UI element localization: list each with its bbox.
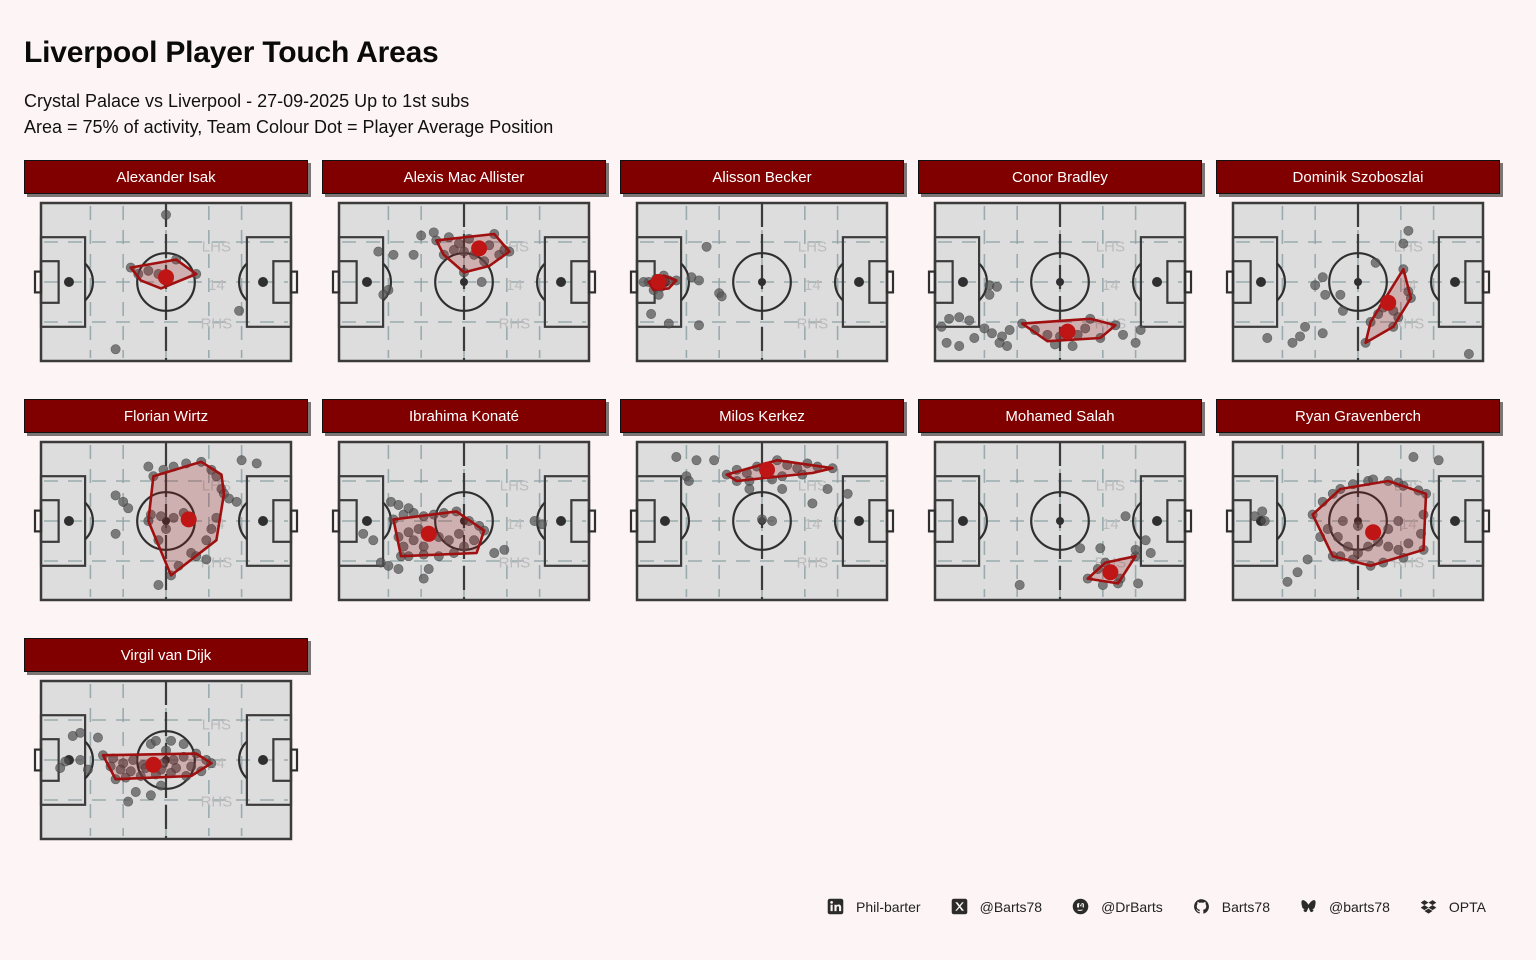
pitch-diagram: LHS14RHS: [934, 441, 1186, 601]
footer-credit-item: @Barts78: [951, 898, 1042, 915]
touch-dot: [111, 491, 120, 500]
touch-dot: [369, 536, 378, 545]
touch-dot: [1068, 341, 1077, 350]
touch-dot: [156, 781, 165, 790]
touch-dot: [56, 763, 65, 772]
pitch-watermark-lhs: LHS: [1096, 478, 1125, 495]
average-position-dot: [1380, 295, 1396, 311]
touch-dot: [417, 231, 426, 240]
pitch-diagram: LHS14RHS: [40, 441, 292, 601]
touch-dot: [1005, 325, 1014, 334]
touch-dot: [1311, 281, 1320, 290]
pitch-watermark-number: 14: [1102, 516, 1119, 533]
touch-dot: [1371, 258, 1380, 267]
touch-dot: [965, 316, 974, 325]
touch-dot: [1076, 544, 1085, 553]
touch-dot: [745, 484, 754, 493]
touch-dot: [379, 290, 388, 299]
average-position-dot: [145, 757, 161, 773]
touch-dot: [702, 242, 711, 251]
pitch-diagram: LHS14RHS: [934, 202, 1186, 362]
touch-dot: [1434, 456, 1443, 465]
player-name-header: Alisson Becker: [620, 160, 904, 194]
touch-dot: [161, 210, 170, 219]
touch-dot: [111, 345, 120, 354]
touch-dot: [429, 228, 438, 237]
touch-dot: [1118, 330, 1127, 339]
player-name-header: Alexander Isak: [24, 160, 308, 194]
footer-credit-label: @barts78: [1329, 899, 1390, 915]
pitch-watermark-lhs: LHS: [1394, 239, 1423, 256]
touch-dot: [1258, 507, 1267, 516]
footer-credit-label: OPTA: [1449, 899, 1486, 915]
touch-dot: [477, 277, 486, 286]
touch-dot: [1464, 349, 1473, 358]
pitch-watermark-rhs: RHS: [797, 315, 829, 332]
pitch-watermark-number: 14: [506, 277, 523, 294]
pitch-watermark-number: 14: [208, 277, 225, 294]
average-position-dot: [1102, 564, 1118, 580]
player-name-header: Ryan Gravenberch: [1216, 399, 1500, 433]
pitch-diagram: LHS14RHS: [338, 202, 590, 362]
average-position-dot: [421, 526, 437, 542]
pitch-container: LHS14RHS: [322, 441, 606, 626]
touch-dot: [1338, 306, 1347, 315]
player-name-header: Dominik Szoboszlai: [1216, 160, 1500, 194]
footer-credit-label: @Barts78: [980, 899, 1042, 915]
touch-dot: [639, 277, 648, 286]
touch-dot: [1303, 555, 1312, 564]
touch-dot: [179, 739, 188, 748]
footer-credit-item: Barts78: [1193, 898, 1270, 915]
average-position-dot: [181, 511, 197, 527]
pitch-container: LHS14RHS: [322, 202, 606, 387]
pitch-container: LHS14RHS: [24, 680, 308, 865]
touch-dot: [694, 321, 703, 330]
pitch-diagram: LHS14RHS: [636, 202, 888, 362]
pitch-diagram: LHS14RHS: [1232, 441, 1484, 601]
touch-dot: [985, 290, 994, 299]
touch-dot: [359, 529, 368, 538]
touch-dot: [1283, 577, 1292, 586]
panel-grid: Alexander IsakLHS14RHSAlexis Mac Alliste…: [24, 160, 1520, 877]
average-position-dot: [471, 240, 487, 256]
pitch-watermark-rhs: RHS: [201, 315, 233, 332]
touch-dot: [538, 520, 547, 529]
footer-credit-label: Barts78: [1222, 899, 1270, 915]
pitch-diagram: LHS14RHS: [40, 680, 292, 840]
panel-row: Florian WirtzLHS14RHSIbrahima KonatéLHS1…: [24, 399, 1520, 626]
touch-dot: [1134, 579, 1143, 588]
pitch-container: LHS14RHS: [918, 202, 1202, 387]
touch-dot: [374, 247, 383, 256]
player-panel[interactable]: Alexis Mac AllisterLHS14RHS: [322, 160, 606, 387]
footer-credit-label: Phil-barter: [856, 899, 921, 915]
pitch-diagram: LHS14RHS: [1232, 202, 1484, 362]
pitch-watermark-lhs: LHS: [202, 717, 231, 734]
player-panel[interactable]: Ibrahima KonatéLHS14RHS: [322, 399, 606, 626]
touch-dot: [778, 484, 787, 493]
touch-dot: [1146, 548, 1155, 557]
player-panel[interactable]: Milos KerkezLHS14RHS: [620, 399, 904, 626]
footer-credit-item: Phil-barter: [827, 898, 921, 915]
touch-dot: [131, 787, 140, 796]
pitch-watermark-rhs: RHS: [797, 554, 829, 571]
github-icon: [1193, 898, 1210, 915]
touch-dot: [955, 313, 964, 322]
touch-dot: [389, 250, 398, 259]
touch-dot: [945, 314, 954, 323]
touch-dot: [93, 733, 102, 742]
touch-dot: [1131, 338, 1140, 347]
panel-row: Virgil van DijkLHS14RHS: [24, 638, 1520, 865]
pitch-watermark-rhs: RHS: [499, 315, 531, 332]
player-name-header: Virgil van Dijk: [24, 638, 308, 672]
footer-credit-item: OPTA: [1420, 898, 1486, 915]
touch-dot: [1096, 544, 1105, 553]
pitch-container: LHS14RHS: [1216, 202, 1500, 387]
touch-dot: [166, 736, 175, 745]
touch-dot: [672, 452, 681, 461]
touch-dot: [252, 459, 261, 468]
player-panel[interactable]: Virgil van DijkLHS14RHS: [24, 638, 308, 865]
mastodon-icon: [1072, 898, 1089, 915]
linkedin-icon: [827, 898, 844, 915]
touch-dot: [409, 250, 418, 259]
touch-dot: [843, 489, 852, 498]
touch-dot: [654, 290, 663, 299]
touch-dot: [394, 564, 403, 573]
panel-row: Alexander IsakLHS14RHSAlexis Mac Alliste…: [24, 160, 1520, 387]
touch-dot: [232, 497, 241, 506]
pitch-watermark-lhs: LHS: [500, 478, 529, 495]
pitch-container: LHS14RHS: [620, 441, 904, 626]
touch-dot: [1136, 325, 1145, 334]
pitch-watermark-lhs: LHS: [1096, 239, 1125, 256]
player-panel[interactable]: Mohamed SalahLHS14RHS: [918, 399, 1202, 626]
touch-dot: [955, 341, 964, 350]
touch-dot: [124, 504, 133, 513]
pitch-container: LHS14RHS: [918, 441, 1202, 626]
touch-dot: [684, 476, 693, 485]
page-subtitle: Crystal Palace vs Liverpool - 27-09-2025…: [24, 88, 553, 140]
average-position-dot: [759, 462, 775, 478]
touch-dot: [83, 765, 92, 774]
touch-dot: [1336, 290, 1345, 299]
player-panel[interactable]: Florian WirtzLHS14RHS: [24, 399, 308, 626]
bluesky-butterfly-icon: [1300, 898, 1317, 915]
pitch-watermark-rhs: RHS: [499, 554, 531, 571]
touch-dot: [664, 319, 673, 328]
touch-dot: [1288, 338, 1297, 347]
player-name-header: Ibrahima Konaté: [322, 399, 606, 433]
touch-dot: [76, 755, 85, 764]
player-name-header: Florian Wirtz: [24, 399, 308, 433]
pitch-diagram: LHS14RHS: [636, 441, 888, 601]
player-panel[interactable]: Alisson BeckerLHS14RHS: [620, 160, 904, 387]
average-position-dot: [1365, 524, 1381, 540]
pitch-container: LHS14RHS: [24, 202, 308, 387]
touch-dot: [76, 728, 85, 737]
touch-dot: [124, 797, 133, 806]
player-name-header: Conor Bradley: [918, 160, 1202, 194]
touch-dot: [384, 561, 393, 570]
touch-dot: [767, 516, 776, 525]
touch-dot: [424, 564, 433, 573]
touch-dot: [1300, 322, 1309, 331]
touch-dot: [1015, 580, 1024, 589]
footer-credit-item: @DrBarts: [1072, 898, 1163, 915]
touch-dot: [146, 791, 155, 800]
touch-dot: [151, 736, 160, 745]
touch-dot: [111, 529, 120, 538]
average-position-dot: [651, 274, 667, 290]
average-position-dot: [158, 269, 174, 285]
pitch-watermark-number: 14: [1102, 277, 1119, 294]
touch-dot: [1260, 516, 1269, 525]
player-name-header: Alexis Mac Allister: [322, 160, 606, 194]
touch-dot: [419, 574, 428, 583]
touch-dot: [1002, 341, 1011, 350]
touch-dot: [1293, 568, 1302, 577]
pitch-watermark-lhs: LHS: [798, 239, 827, 256]
touch-dot: [144, 462, 153, 471]
page-title: Liverpool Player Touch Areas: [24, 36, 439, 70]
subtitle-line-1: Crystal Palace vs Liverpool - 27-09-2025…: [24, 88, 553, 114]
touch-dot: [992, 282, 1001, 291]
player-panel[interactable]: Ryan GravenberchLHS14RHS: [1216, 399, 1500, 626]
touch-dot: [202, 555, 211, 564]
footer-credit-label: @DrBarts: [1101, 899, 1163, 915]
touch-dot: [823, 484, 832, 493]
pitch-watermark-rhs: RHS: [201, 793, 233, 810]
player-panel[interactable]: Conor BradleyLHS14RHS: [918, 160, 1202, 387]
touch-dot: [937, 322, 946, 331]
touch-dot: [500, 545, 509, 554]
footer-credit-item: @barts78: [1300, 898, 1390, 915]
touch-dot: [237, 456, 246, 465]
pitch-watermark-number: 14: [804, 277, 821, 294]
pitch-watermark-lhs: LHS: [798, 478, 827, 495]
touch-dot: [1404, 226, 1413, 235]
touch-dot: [1399, 239, 1408, 248]
touch-dot: [1121, 512, 1130, 521]
touch-dot: [970, 333, 979, 342]
pitch-watermark-number: 14: [804, 516, 821, 533]
touch-dot: [394, 500, 403, 509]
average-position-dot: [1060, 324, 1076, 340]
touch-dot: [717, 292, 726, 301]
visualization-page: Liverpool Player Touch Areas Crystal Pal…: [0, 0, 1536, 960]
touch-dot: [1409, 452, 1418, 461]
touch-dot: [1318, 329, 1327, 338]
player-panel[interactable]: Dominik SzoboszlaiLHS14RHS: [1216, 160, 1500, 387]
touch-dot: [404, 504, 413, 513]
touch-dot: [694, 276, 703, 285]
touch-dot: [1295, 332, 1304, 341]
pitch-diagram: LHS14RHS: [40, 202, 292, 362]
touch-dot: [980, 324, 989, 333]
touch-dot: [490, 548, 499, 557]
pitch-watermark-lhs: LHS: [202, 239, 231, 256]
touch-dot: [710, 456, 719, 465]
pitch-container: LHS14RHS: [1216, 441, 1500, 626]
touch-dot: [1318, 273, 1327, 282]
pitch-container: LHS14RHS: [620, 202, 904, 387]
pitch-watermark-number: 14: [506, 516, 523, 533]
touch-dot: [1263, 333, 1272, 342]
touch-dot: [757, 515, 766, 524]
touch-dot: [692, 456, 701, 465]
player-panel[interactable]: Alexander IsakLHS14RHS: [24, 160, 308, 387]
touch-dot: [234, 306, 243, 315]
touch-dot: [154, 580, 163, 589]
dropbox-icon: [1420, 898, 1437, 915]
player-name-header: Milos Kerkez: [620, 399, 904, 433]
footer-credits: Phil-barter@Barts78@DrBartsBarts78@barts…: [0, 898, 1536, 915]
x-twitter-icon: [951, 898, 968, 915]
touch-dot: [1141, 536, 1150, 545]
subtitle-line-2: Area = 75% of activity, Team Colour Dot …: [24, 114, 553, 140]
touch-dot: [1321, 290, 1330, 299]
pitch-container: LHS14RHS: [24, 441, 308, 626]
touch-dot: [647, 309, 656, 318]
touch-dot: [942, 338, 951, 347]
touch-dot: [1131, 545, 1140, 554]
touch-dot: [808, 499, 817, 508]
player-name-header: Mohamed Salah: [918, 399, 1202, 433]
pitch-diagram: LHS14RHS: [338, 441, 590, 601]
